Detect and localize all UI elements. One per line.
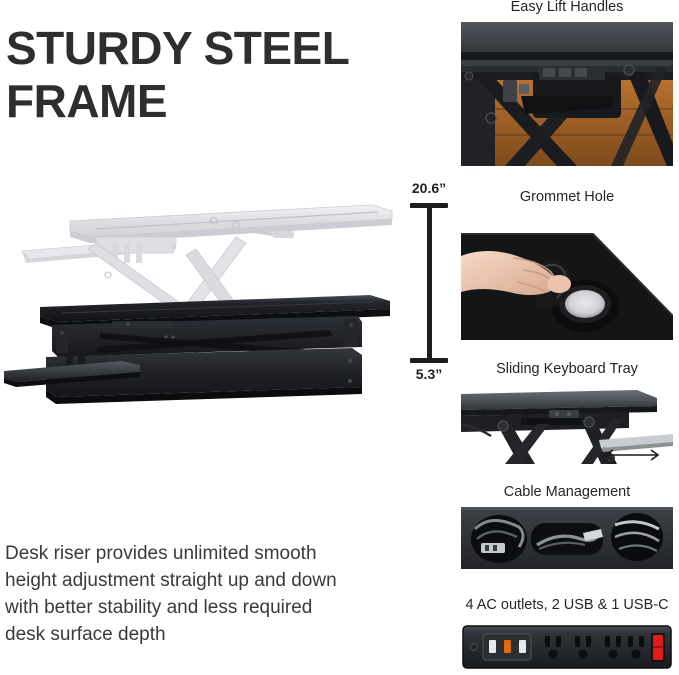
feature-caption-outlets: 4 AC outlets, 2 USB & 1 USB-C — [455, 598, 679, 614]
cable-management-photo — [461, 507, 673, 569]
double-headed-arrow-icon — [601, 448, 663, 462]
page-title: STURDY STEEL FRAME — [6, 22, 426, 128]
feature-block-keyboard-tray: Sliding Keyboard Tray — [455, 362, 679, 378]
feature-block-grommet: Grommet Hole — [455, 190, 679, 206]
sliding-keyboard-tray-photo — [461, 384, 673, 470]
feature-caption-grommet: Grommet Hole — [455, 190, 679, 206]
feature-block-cable-management: Cable Management — [455, 485, 679, 501]
left-content-column: STURDY STEEL FRAME — [0, 0, 455, 675]
ruler-shaft — [427, 205, 432, 360]
feature-block-lift-handles: Easy Lift Handles — [455, 0, 679, 16]
max-height-label: 20.6” — [398, 180, 460, 196]
power-strip-photo — [461, 620, 673, 675]
feature-block-outlets: 4 AC outlets, 2 USB & 1 USB-C — [455, 598, 679, 614]
description-text: Desk riser provides unlimited smooth hei… — [5, 541, 355, 649]
grommet-hole-photo — [461, 212, 673, 340]
ruler-bottom-cap — [410, 358, 448, 363]
feature-caption-keyboard-tray: Sliding Keyboard Tray — [455, 362, 679, 378]
feature-caption-lift-handles: Easy Lift Handles — [455, 0, 679, 16]
product-illustration — [0, 185, 400, 440]
easy-lift-handles-photo — [461, 22, 673, 166]
min-height-label: 5.3” — [398, 366, 460, 382]
feature-caption-cable-management: Cable Management — [455, 485, 679, 501]
dimension-ruler: 20.6” 5.3” — [398, 180, 460, 390]
feature-panel-column: Easy Lift Handles — [455, 0, 679, 675]
